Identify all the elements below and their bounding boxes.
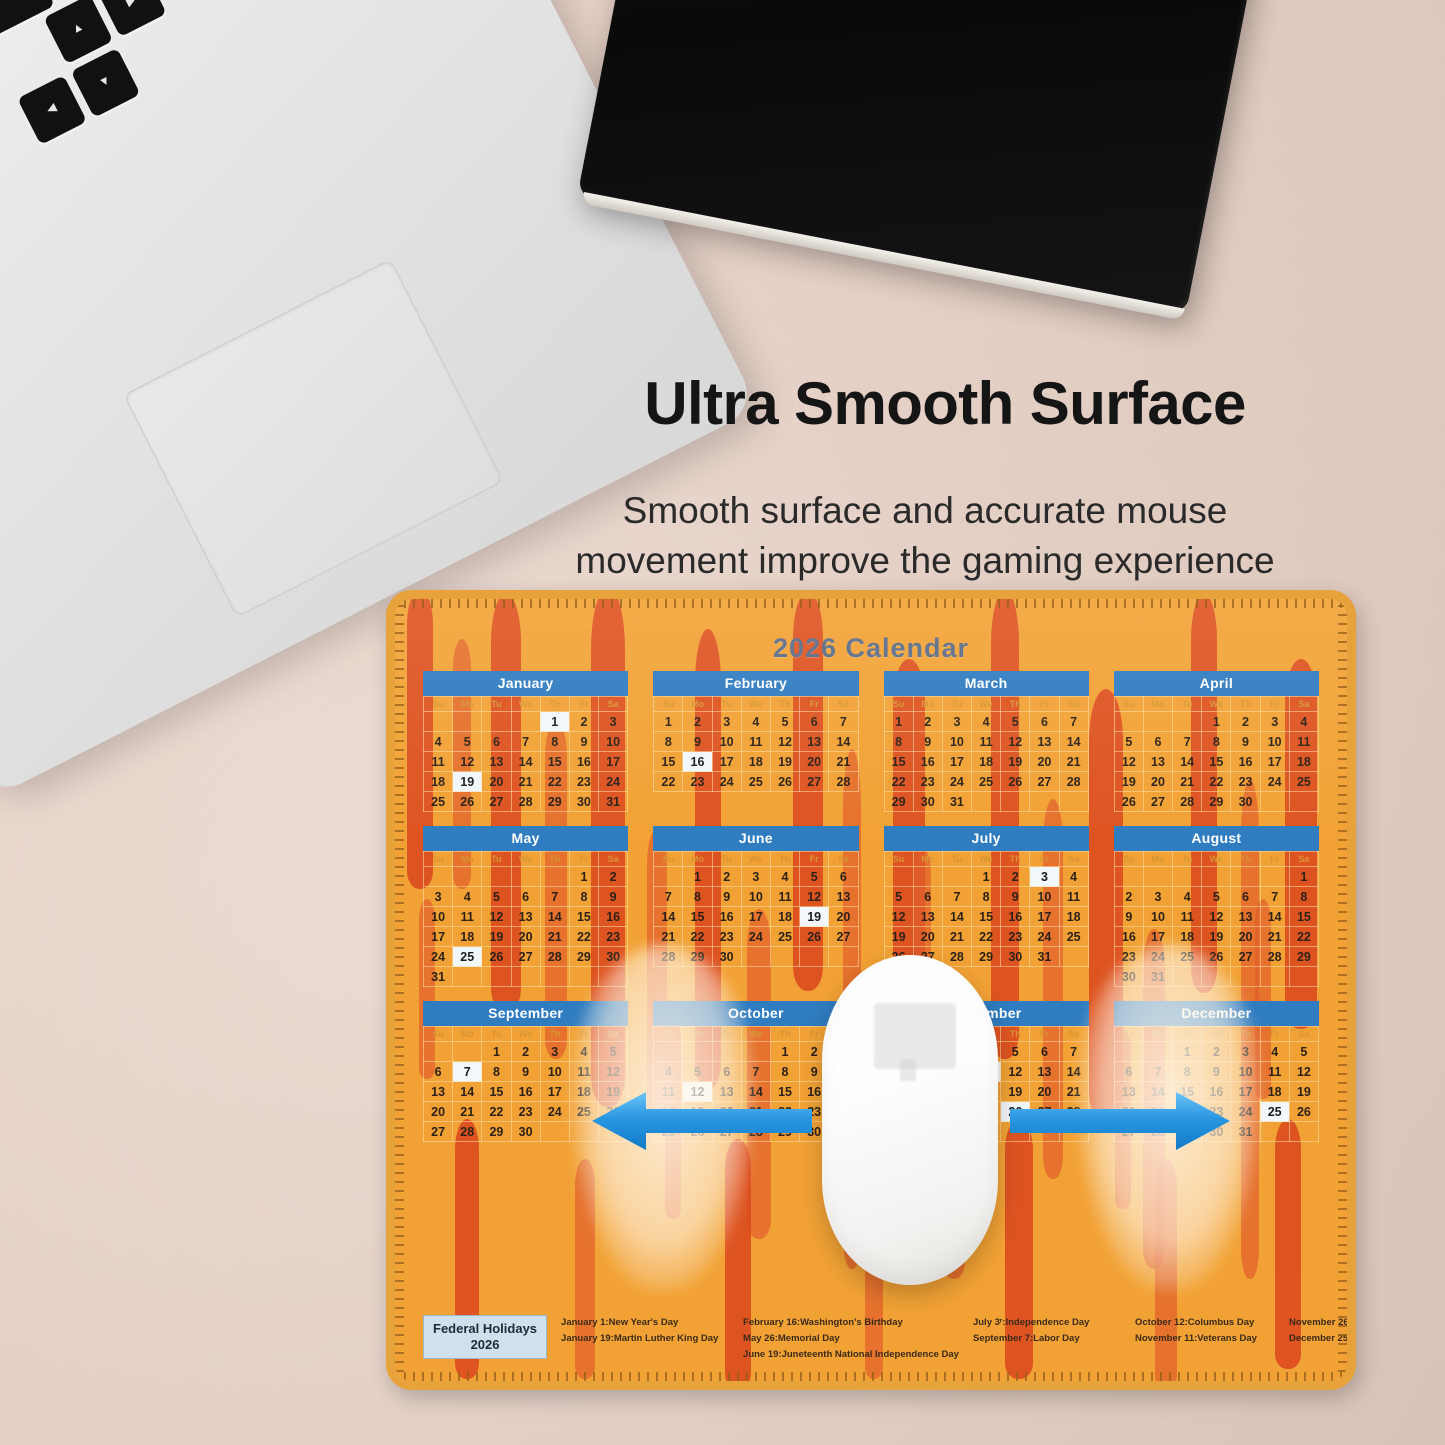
weekday-header: Fr — [1260, 1027, 1289, 1042]
day-cell: 24 — [1143, 947, 1172, 967]
day-cell: 12 — [770, 732, 799, 752]
day-cell: 25 — [1289, 772, 1318, 792]
day-cell: 15 — [540, 752, 569, 772]
wireless-mouse[interactable] — [822, 955, 998, 1285]
day-cell: 18 — [1173, 927, 1202, 947]
calendar-month: JanuarySuMoTuWeThFrSa1234567891011121314… — [423, 671, 628, 812]
day-cell: 3 — [1143, 887, 1172, 907]
month-header: May — [423, 826, 628, 851]
day-cell: 28 — [540, 947, 569, 967]
day-cell: 7 — [942, 887, 971, 907]
month-header: December — [1114, 1001, 1319, 1026]
day-cell: 11 — [972, 732, 1001, 752]
day-cell: 7 — [511, 732, 540, 752]
day-cell: 24 — [1231, 1102, 1260, 1122]
day-cell: 6 — [1030, 1042, 1059, 1062]
day-cell: 14 — [1059, 732, 1088, 752]
holiday-entry: October 12:Columbus Day — [1135, 1315, 1275, 1331]
day-cell: 18 — [972, 752, 1001, 772]
day-cell: 10 — [540, 1062, 569, 1082]
day-cell: 9 — [599, 887, 628, 907]
weekday-header: Fr — [1260, 697, 1289, 712]
day-cell: 14 — [1173, 752, 1202, 772]
month-header: April — [1114, 671, 1319, 696]
weekday-header: Th — [1001, 697, 1030, 712]
weekday-header: Mo — [1143, 697, 1172, 712]
weekday-header: Su — [1114, 1027, 1143, 1042]
empty-day-cell — [1231, 967, 1260, 987]
day-cell: 5 — [770, 712, 799, 732]
day-cell: 9 — [511, 1062, 540, 1082]
day-cell: 8 — [884, 732, 913, 752]
weekday-header: Su — [654, 697, 683, 712]
day-cell: 7 — [540, 887, 569, 907]
holiday-day-cell: 19 — [800, 907, 829, 927]
day-cell: 9 — [1202, 1062, 1231, 1082]
day-cell: 4 — [453, 887, 482, 907]
day-cell: 7 — [741, 1062, 770, 1082]
weekday-header: Mo — [913, 852, 942, 867]
day-cell: 2 — [599, 867, 628, 887]
day-cell: 16 — [1001, 907, 1030, 927]
month-day-grid: SuMoTuWeThFrSa12345678910111213141516171… — [1114, 696, 1319, 812]
empty-day-cell — [1114, 1042, 1143, 1062]
day-cell: 1 — [569, 867, 598, 887]
day-cell: 11 — [1289, 732, 1318, 752]
day-cell: 6 — [1030, 712, 1059, 732]
day-cell: 20 — [482, 772, 511, 792]
empty-day-cell — [1059, 792, 1088, 812]
day-cell: 1 — [972, 867, 1001, 887]
day-cell: 23 — [511, 1102, 540, 1122]
day-cell: 24 — [599, 772, 628, 792]
day-cell: 17 — [741, 907, 770, 927]
week-row: 16171819202122 — [1114, 927, 1318, 947]
holiday-entry: June 19:Juneteenth National Independence… — [743, 1347, 959, 1363]
empty-day-cell — [741, 1042, 770, 1062]
day-cell: 19 — [1289, 1082, 1318, 1102]
day-cell: 20 — [1231, 927, 1260, 947]
weekday-header: Mo — [1143, 852, 1172, 867]
month-header: June — [653, 826, 858, 851]
weekday-header: Tu — [1173, 1027, 1202, 1042]
day-cell: 29 — [1289, 947, 1318, 967]
empty-day-cell — [424, 1042, 453, 1062]
week-row: 31 — [424, 967, 628, 987]
day-cell: 19 — [482, 927, 511, 947]
day-cell: 7 — [1059, 1042, 1088, 1062]
day-cell: 4 — [1260, 1042, 1289, 1062]
day-cell: 3 — [1231, 1042, 1260, 1062]
holiday-column: October 12:Columbus DayNovember 11:Veter… — [1135, 1315, 1275, 1347]
calendar-month: JuneSuMoTuWeThFrSa1234567891011121314151… — [653, 826, 858, 987]
empty-day-cell — [829, 947, 858, 967]
week-row: 293031 — [884, 792, 1088, 812]
day-cell: 5 — [599, 1042, 628, 1062]
weekday-header: Sa — [1289, 1027, 1318, 1042]
motion-arrow-right-icon — [1010, 1090, 1230, 1157]
day-cell: 27 — [829, 927, 858, 947]
holiday-entry: January 19:Martin Luther King Day — [561, 1331, 729, 1347]
day-cell: 3 — [424, 887, 453, 907]
day-cell: 21 — [654, 927, 683, 947]
day-cell: 1 — [770, 1042, 799, 1062]
weekday-header: Tu — [482, 697, 511, 712]
day-cell: 23 — [913, 772, 942, 792]
weekday-header: Mo — [683, 852, 712, 867]
day-cell: 23 — [569, 772, 598, 792]
day-cell: 13 — [1231, 907, 1260, 927]
weekday-header: Th — [540, 697, 569, 712]
empty-day-cell — [741, 947, 770, 967]
day-cell: 9 — [913, 732, 942, 752]
holiday-column: July 3ʳ:Independence DaySeptember 7:Labo… — [973, 1315, 1121, 1347]
week-row: 14151617181920 — [654, 907, 858, 927]
holiday-day-cell: 19 — [453, 772, 482, 792]
day-cell: 4 — [1059, 867, 1088, 887]
day-cell: 24 — [942, 772, 971, 792]
day-cell: 9 — [1001, 887, 1030, 907]
empty-day-cell — [712, 1042, 741, 1062]
day-cell: 24 — [540, 1102, 569, 1122]
empty-day-cell — [800, 947, 829, 967]
day-cell: 20 — [424, 1102, 453, 1122]
weekday-header: We — [1202, 697, 1231, 712]
day-cell: 14 — [1059, 1062, 1088, 1082]
day-cell: 7 — [1173, 732, 1202, 752]
weekday-header: Th — [770, 697, 799, 712]
empty-day-cell — [511, 967, 540, 987]
day-cell: 7 — [1260, 887, 1289, 907]
empty-day-cell — [1143, 1042, 1172, 1062]
empty-day-cell — [599, 967, 628, 987]
weekday-header: Su — [884, 852, 913, 867]
holiday-entry: September 7:Labor Day — [973, 1331, 1121, 1347]
day-cell: 31 — [1030, 947, 1059, 967]
empty-day-cell — [453, 1042, 482, 1062]
day-cell: 13 — [1030, 732, 1059, 752]
page-headline: Ultra Smooth Surface — [505, 372, 1385, 435]
day-cell: 12 — [599, 1062, 628, 1082]
weekday-header: Tu — [712, 852, 741, 867]
day-cell: 17 — [599, 752, 628, 772]
week-row: 3456789 — [424, 887, 628, 907]
day-cell: 31 — [1143, 967, 1172, 987]
month-day-grid: SuMoTuWeThFrSa12345678910111213141516171… — [1114, 851, 1319, 987]
calendar-month: AprilSuMoTuWeThFrSa123456789101112131415… — [1114, 671, 1319, 812]
holiday-entry: November 11:Veterans Day — [1135, 1331, 1275, 1347]
day-cell: 5 — [1202, 887, 1231, 907]
weekday-header: Th — [1231, 1027, 1260, 1042]
federal-holidays-badge-title: Federal Holidays — [433, 1321, 537, 1337]
day-cell: 28 — [1260, 947, 1289, 967]
day-cell: 13 — [829, 887, 858, 907]
day-cell: 8 — [972, 887, 1001, 907]
day-cell: 4 — [654, 1062, 683, 1082]
day-cell: 16 — [712, 907, 741, 927]
day-cell: 6 — [1231, 887, 1260, 907]
month-day-grid: SuMoTuWeThFrSa12345678910111213141516171… — [884, 696, 1089, 812]
weekday-header: We — [972, 852, 1001, 867]
week-row: 17181920212223 — [424, 927, 628, 947]
day-cell: 31 — [599, 792, 628, 812]
day-cell: 21 — [453, 1102, 482, 1122]
weekday-header: Sa — [1059, 852, 1088, 867]
day-cell: 11 — [1260, 1062, 1289, 1082]
weekday-header: Tu — [712, 1027, 741, 1042]
day-cell: 2 — [712, 867, 741, 887]
day-cell: 2 — [913, 712, 942, 732]
weekday-header: Sa — [1289, 697, 1318, 712]
day-cell: 23 — [683, 772, 712, 792]
day-cell: 5 — [1114, 732, 1143, 752]
empty-day-cell — [1260, 867, 1289, 887]
day-cell: 30 — [913, 792, 942, 812]
day-cell: 30 — [569, 792, 598, 812]
day-cell: 29 — [683, 947, 712, 967]
holiday-entry: February 16:Washington's Birthday — [743, 1315, 959, 1331]
day-cell: 13 — [511, 907, 540, 927]
day-cell: 28 — [829, 772, 858, 792]
day-cell: 14 — [654, 907, 683, 927]
day-cell: 27 — [424, 1122, 453, 1142]
weekday-header: Tu — [482, 1027, 511, 1042]
weekday-header: Tu — [1173, 697, 1202, 712]
weekday-header: Fr — [800, 697, 829, 712]
week-row: 891011121314 — [884, 732, 1088, 752]
holiday-day-cell: 25 — [1260, 1102, 1289, 1122]
day-cell: 17 — [424, 927, 453, 947]
day-cell: 10 — [712, 732, 741, 752]
day-cell: 25 — [1173, 947, 1202, 967]
mouse-reflection — [874, 1003, 956, 1069]
empty-day-cell — [1143, 867, 1172, 887]
day-cell: 28 — [453, 1122, 482, 1142]
day-cell: 6 — [482, 732, 511, 752]
day-cell: 23 — [712, 927, 741, 947]
empty-day-cell — [770, 947, 799, 967]
month-header: January — [423, 671, 628, 696]
day-cell: 24 — [1260, 772, 1289, 792]
day-cell: 21 — [942, 927, 971, 947]
day-cell: 1 — [884, 712, 913, 732]
weekday-header: Fr — [569, 1027, 598, 1042]
weekday-header: Fr — [1260, 852, 1289, 867]
day-cell: 15 — [654, 752, 683, 772]
day-cell: 27 — [482, 792, 511, 812]
day-cell: 27 — [1030, 772, 1059, 792]
day-cell: 22 — [482, 1102, 511, 1122]
day-cell: 3 — [599, 712, 628, 732]
day-cell: 4 — [770, 867, 799, 887]
empty-day-cell — [540, 1122, 569, 1142]
empty-day-cell — [1202, 867, 1231, 887]
day-cell: 6 — [1143, 732, 1172, 752]
day-cell: 24 — [712, 772, 741, 792]
day-cell: 27 — [1231, 947, 1260, 967]
day-cell: 1 — [1202, 712, 1231, 732]
day-cell: 19 — [884, 927, 913, 947]
day-cell: 5 — [884, 887, 913, 907]
month-day-grid: SuMoTuWeThFrSa12345678910111213141516171… — [653, 696, 858, 792]
day-cell: 23 — [1231, 772, 1260, 792]
empty-day-cell — [972, 792, 1001, 812]
day-cell: 21 — [511, 772, 540, 792]
day-cell: 26 — [770, 772, 799, 792]
day-cell: 26 — [1114, 792, 1143, 812]
weekday-header: Fr — [800, 852, 829, 867]
empty-day-cell — [1260, 1122, 1289, 1142]
day-cell: 27 — [800, 772, 829, 792]
day-cell: 18 — [741, 752, 770, 772]
weekday-header: Th — [1231, 852, 1260, 867]
day-cell: 30 — [1231, 792, 1260, 812]
empty-day-cell — [1260, 792, 1289, 812]
day-cell: 6 — [712, 1062, 741, 1082]
day-cell: 5 — [1289, 1042, 1318, 1062]
week-row: 12131415161718 — [1114, 752, 1318, 772]
day-cell: 21 — [829, 752, 858, 772]
day-cell: 10 — [599, 732, 628, 752]
week-row: 11121314151617 — [424, 752, 628, 772]
day-cell: 7 — [1143, 1062, 1172, 1082]
empty-day-cell — [1114, 867, 1143, 887]
month-header: February — [653, 671, 858, 696]
day-cell: 27 — [511, 947, 540, 967]
weekday-header: We — [741, 852, 770, 867]
weekday-header: Su — [654, 852, 683, 867]
weekday-header: We — [511, 852, 540, 867]
page-subheadline: Smooth surface and accurate mouse moveme… — [460, 486, 1390, 586]
day-cell: 1 — [1289, 867, 1318, 887]
holiday-entry: January 1:New Year's Day — [561, 1315, 729, 1331]
day-cell: 30 — [1114, 967, 1143, 987]
day-cell: 9 — [712, 887, 741, 907]
empty-day-cell — [453, 867, 482, 887]
day-cell: 11 — [453, 907, 482, 927]
week-row: 12131415161718 — [884, 907, 1088, 927]
subheadline-line-2: movement improve the gaming experience — [460, 536, 1390, 586]
empty-day-cell — [1289, 967, 1318, 987]
holiday-entry: July 3ʳ:Independence Day — [973, 1315, 1121, 1331]
day-cell: 22 — [1202, 772, 1231, 792]
empty-day-cell — [569, 967, 598, 987]
day-cell: 12 — [800, 887, 829, 907]
weekday-header: Tu — [1173, 852, 1202, 867]
calendar-month: FebruarySuMoTuWeThFrSa123456789101112131… — [653, 671, 858, 812]
week-row: 10111213141516 — [424, 907, 628, 927]
day-cell: 6 — [1114, 1062, 1143, 1082]
day-cell: 8 — [1289, 887, 1318, 907]
day-cell: 1 — [1173, 1042, 1202, 1062]
empty-day-cell — [511, 712, 540, 732]
weekday-header: Su — [424, 1027, 453, 1042]
day-cell: 5 — [1001, 1042, 1030, 1062]
day-cell: 24 — [424, 947, 453, 967]
empty-day-cell — [1030, 792, 1059, 812]
week-row: 1234567 — [654, 712, 858, 732]
day-cell: 1 — [683, 867, 712, 887]
keyboard-key-alt: alt — [0, 120, 2, 205]
day-cell: 23 — [599, 927, 628, 947]
day-cell: 3 — [712, 712, 741, 732]
weekday-header: Fr — [1030, 852, 1059, 867]
week-row: 123456 — [654, 867, 858, 887]
empty-day-cell — [1231, 867, 1260, 887]
day-cell: 19 — [1202, 927, 1231, 947]
day-cell: 31 — [942, 792, 971, 812]
day-cell: 6 — [511, 887, 540, 907]
empty-day-cell — [1260, 967, 1289, 987]
weekday-header: Tu — [712, 697, 741, 712]
holiday-entry: December 25:Christmas Day — [1289, 1331, 1347, 1347]
day-cell: 18 — [1260, 1082, 1289, 1102]
day-cell: 24 — [741, 927, 770, 947]
day-cell: 22 — [972, 927, 1001, 947]
day-cell: 15 — [569, 907, 598, 927]
day-cell: 29 — [1202, 792, 1231, 812]
week-row: 1234567 — [884, 712, 1088, 732]
week-row: 6789101112 — [424, 1062, 628, 1082]
day-cell: 5 — [683, 1062, 712, 1082]
day-cell: 13 — [1030, 1062, 1059, 1082]
day-cell: 9 — [1231, 732, 1260, 752]
weekday-header: Mo — [453, 1027, 482, 1042]
day-cell: 11 — [741, 732, 770, 752]
weekday-header: Sa — [1059, 1027, 1088, 1042]
day-cell: 3 — [942, 712, 971, 732]
week-row: 15161718192021 — [654, 752, 858, 772]
week-row: 1234 — [884, 867, 1088, 887]
day-cell: 26 — [453, 792, 482, 812]
empty-day-cell — [884, 867, 913, 887]
day-cell: 29 — [482, 1122, 511, 1142]
empty-day-cell — [482, 967, 511, 987]
weekday-header: Th — [540, 1027, 569, 1042]
day-cell: 23 — [1114, 947, 1143, 967]
month-day-grid: SuMoTuWeThFrSa12345678910111213141516171… — [653, 851, 858, 967]
day-cell: 2 — [511, 1042, 540, 1062]
day-cell: 7 — [654, 887, 683, 907]
day-cell: 15 — [972, 907, 1001, 927]
empty-day-cell — [683, 1042, 712, 1062]
day-cell: 12 — [482, 907, 511, 927]
day-cell: 4 — [972, 712, 1001, 732]
federal-holidays-badge-year: 2026 — [433, 1337, 537, 1353]
day-cell: 11 — [569, 1062, 598, 1082]
day-cell: 23 — [1001, 927, 1030, 947]
day-cell: 9 — [683, 732, 712, 752]
day-cell: 22 — [1289, 927, 1318, 947]
weekday-header: Mo — [1143, 1027, 1172, 1042]
holiday-day-cell: 1 — [540, 712, 569, 732]
day-cell: 5 — [453, 732, 482, 752]
day-cell: 6 — [829, 867, 858, 887]
federal-holidays-section: Federal Holidays 2026 January 1:New Year… — [423, 1315, 1319, 1363]
day-cell: 18 — [770, 907, 799, 927]
day-cell: 12 — [1114, 752, 1143, 772]
day-cell: 3 — [741, 867, 770, 887]
day-cell: 15 — [884, 752, 913, 772]
day-cell: 14 — [942, 907, 971, 927]
weekday-header: We — [741, 697, 770, 712]
day-cell: 28 — [1173, 792, 1202, 812]
weekday-header: Tu — [942, 852, 971, 867]
day-cell: 15 — [1202, 752, 1231, 772]
day-cell: 28 — [654, 947, 683, 967]
weekday-header: We — [511, 697, 540, 712]
weekday-header: Su — [884, 697, 913, 712]
